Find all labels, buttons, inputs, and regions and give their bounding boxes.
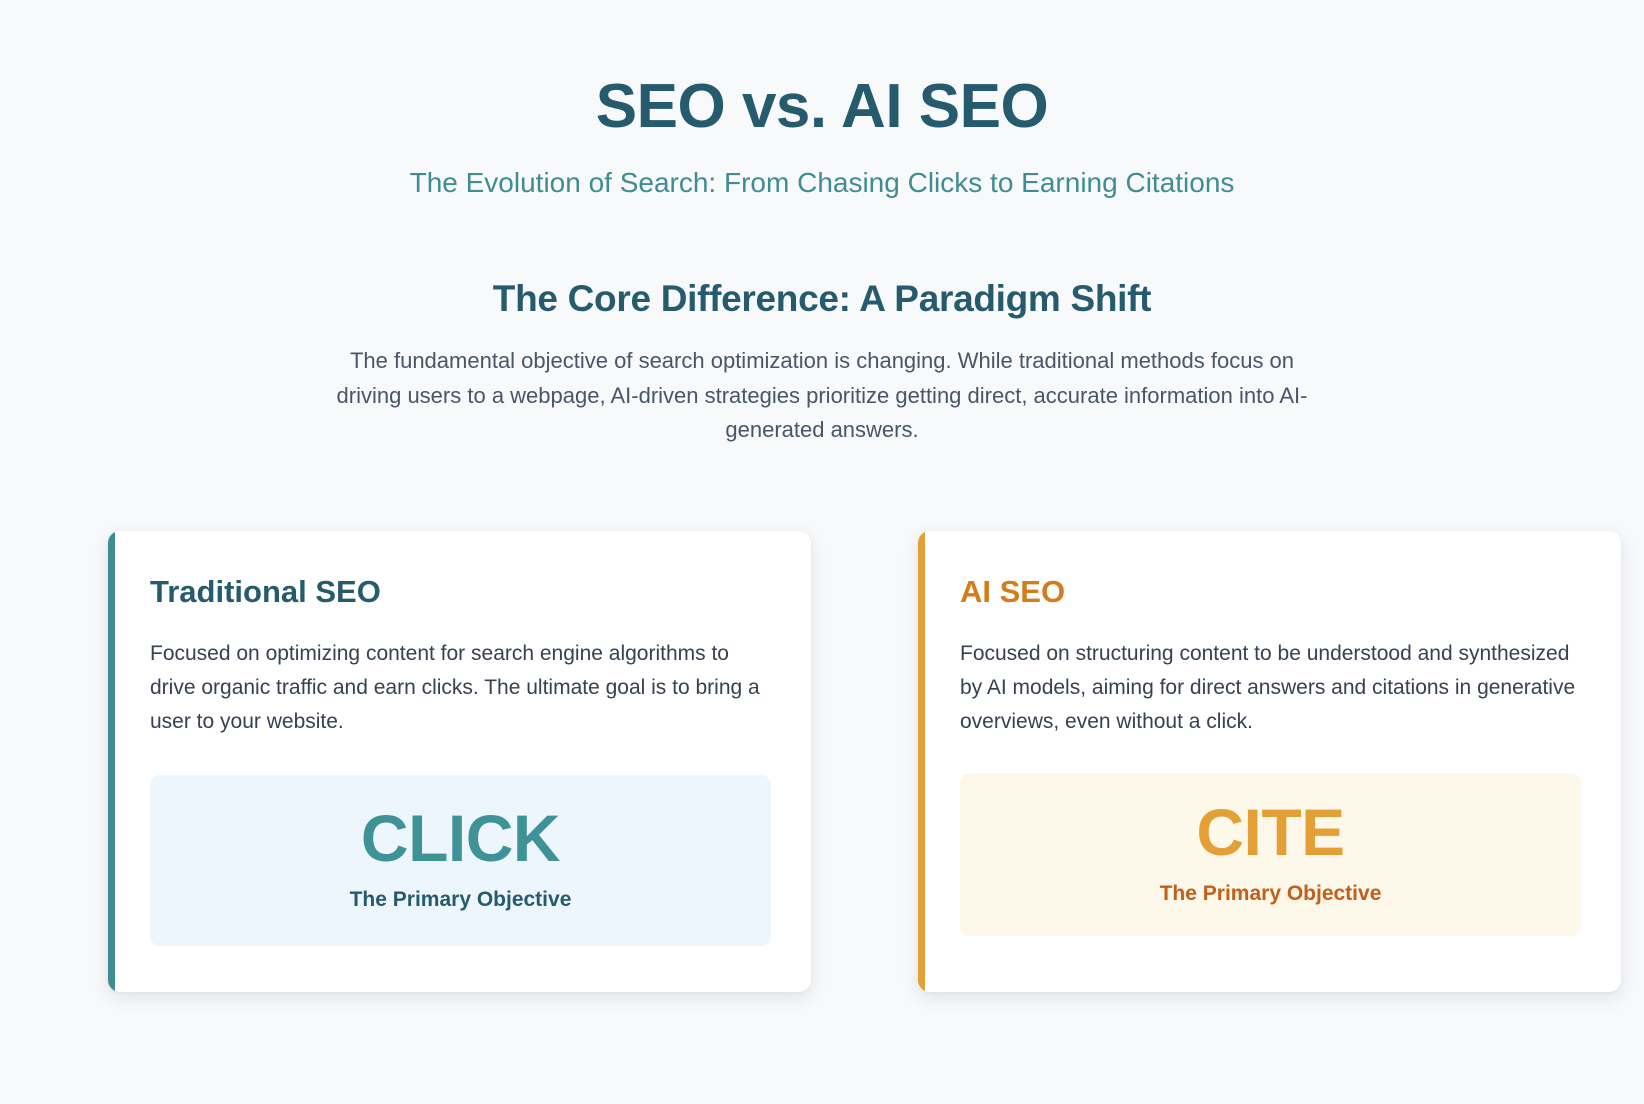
intro-section: The Core Difference: A Paradigm Shift Th… [0, 278, 1644, 447]
card-title-ai-seo: AI SEO [960, 575, 1581, 609]
objective-caption-click: The Primary Objective [170, 888, 751, 912]
objective-badge-click: CLICK The Primary Objective [150, 775, 771, 946]
card-body-ai-seo: Focused on structuring content to be und… [960, 637, 1581, 739]
intro-heading: The Core Difference: A Paradigm Shift [0, 278, 1644, 320]
card-title-traditional-seo: Traditional SEO [150, 575, 771, 609]
page-title: SEO vs. AI SEO [0, 72, 1644, 141]
card-traditional-seo: Traditional SEO Focused on optimizing co… [108, 531, 811, 992]
page-subtitle: The Evolution of Search: From Chasing Cl… [0, 165, 1644, 200]
objective-word-click: CLICK [170, 805, 751, 871]
card-ai-seo: AI SEO Focused on structuring content to… [918, 531, 1621, 992]
intro-body-text: The fundamental objective of search opti… [332, 344, 1312, 447]
objective-word-cite: CITE [980, 799, 1561, 865]
objective-caption-cite: The Primary Objective [980, 882, 1561, 906]
accent-stripe-icon [108, 531, 115, 992]
hero-header: SEO vs. AI SEO The Evolution of Search: … [0, 0, 1644, 200]
card-body-traditional-seo: Focused on optimizing content for search… [150, 637, 771, 739]
objective-badge-cite: CITE The Primary Objective [960, 773, 1581, 936]
page-root: SEO vs. AI SEO The Evolution of Search: … [0, 0, 1644, 1104]
accent-stripe-icon [918, 531, 925, 992]
comparison-cards: Traditional SEO Focused on optimizing co… [108, 531, 1621, 992]
